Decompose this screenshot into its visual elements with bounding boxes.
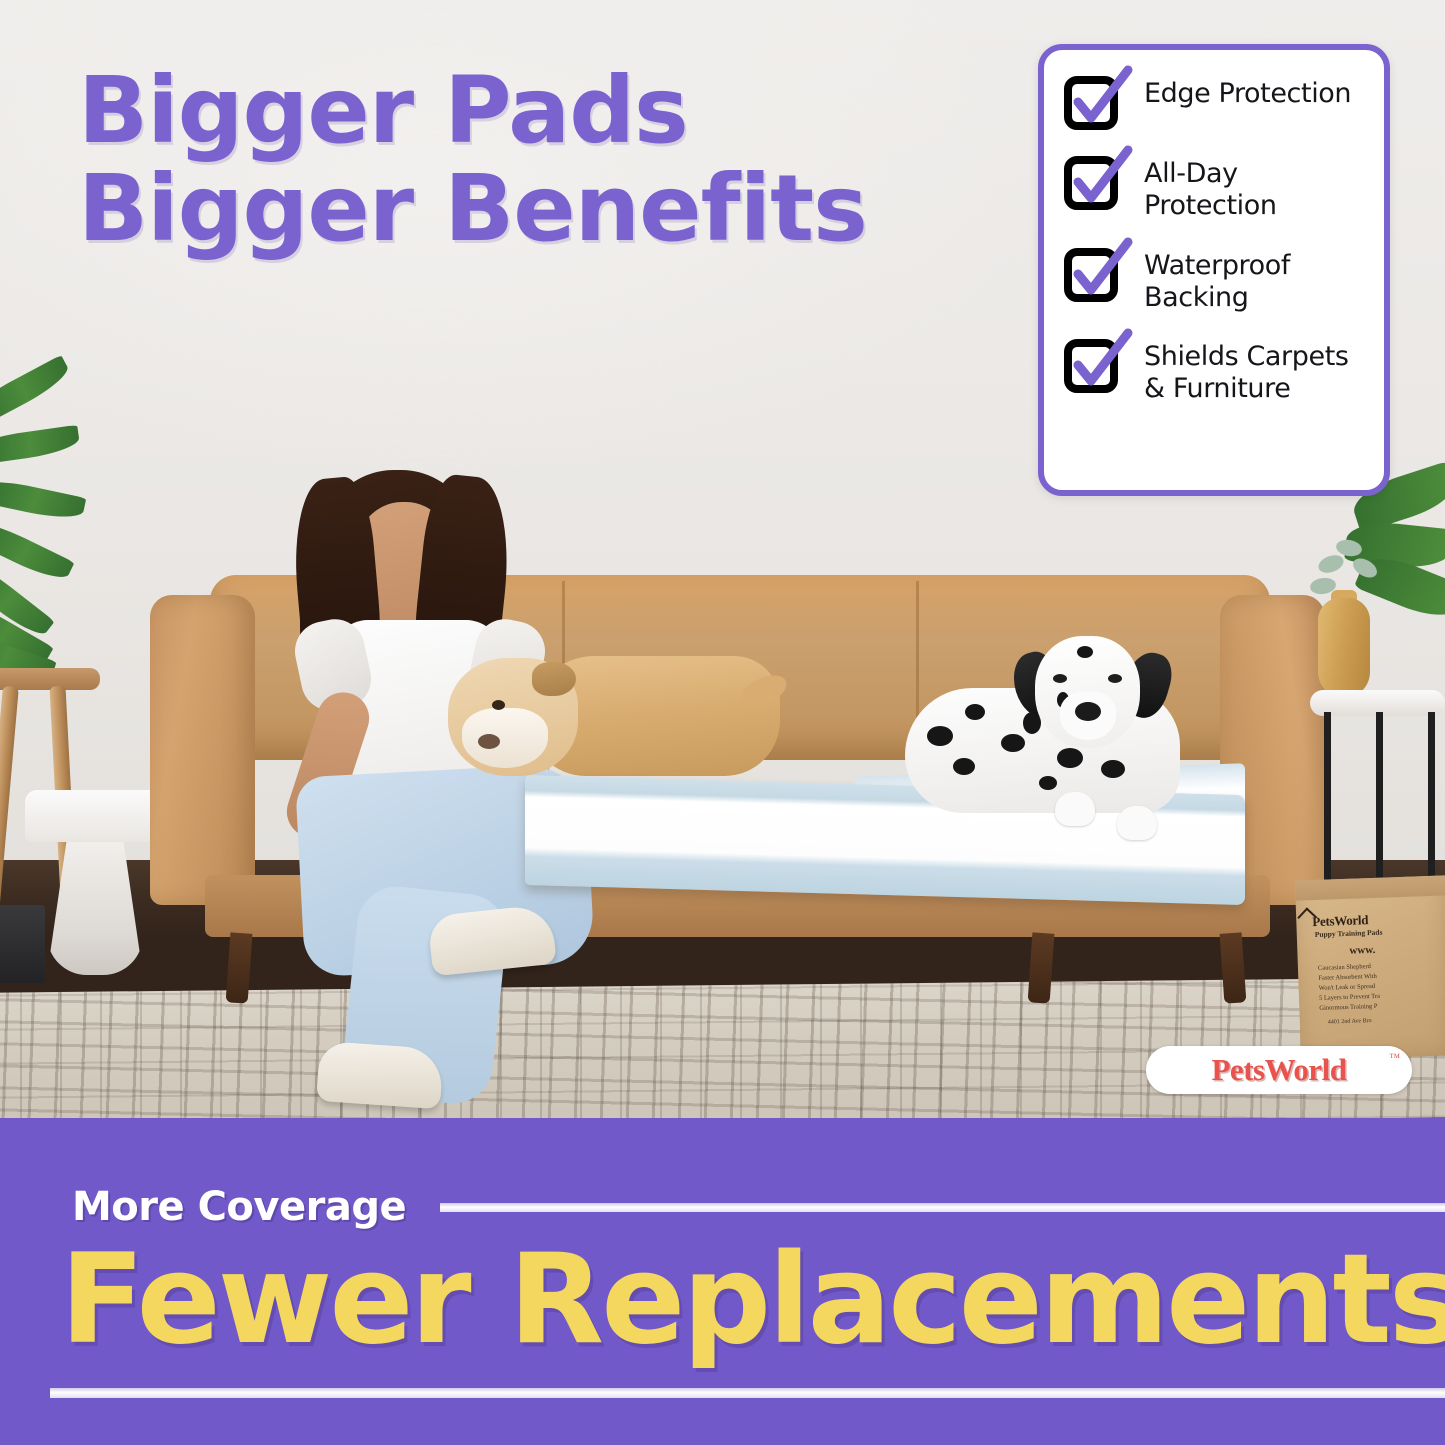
- product-marketing-image: PetsWorld Puppy Training Pads www. Cauca…: [0, 0, 1445, 1445]
- feature-label: Waterproof Backing: [1144, 248, 1368, 314]
- sofa-leg: [1220, 932, 1247, 1003]
- box-address: 4401 2nd Ave Bro: [1328, 1018, 1372, 1026]
- dalmatian: [905, 630, 1225, 845]
- checkbox-checked-icon: [1064, 248, 1122, 302]
- feature-label: Shields Carpets & Furniture: [1144, 339, 1368, 405]
- product-package-box: PetsWorld Puppy Training Pads www. Cauca…: [1295, 875, 1445, 1060]
- feature-checklist-card: Edge Protection All-Day Protection Water…: [1038, 44, 1390, 496]
- feature-item-edge-protection: Edge Protection: [1064, 76, 1368, 130]
- banner-headline: Fewer Replacements: [60, 1238, 1445, 1362]
- checkbox-checked-icon: [1064, 76, 1122, 130]
- feature-label: All-Day Protection: [1144, 156, 1368, 222]
- feature-label: Edge Protection: [1144, 76, 1351, 110]
- box-feature-list: Caucasian Shepherd Faster Absorbent With…: [1318, 962, 1381, 1014]
- box-website: www.: [1349, 944, 1375, 957]
- banner-eyebrow: More Coverage: [72, 1184, 406, 1230]
- feature-item-all-day-protection: All-Day Protection: [1064, 156, 1368, 222]
- checkbox-checked-icon: [1064, 339, 1122, 393]
- sofa-leg: [1028, 932, 1055, 1003]
- checkbox-checked-icon: [1064, 156, 1122, 210]
- headline-line-2: Bigger Benefits: [78, 160, 958, 258]
- headline-line-1: Bigger Pads: [78, 62, 958, 160]
- trademark-symbol: ™: [1389, 1052, 1400, 1064]
- box-brand-name: PetsWorld: [1312, 912, 1368, 930]
- box-subtitle: Puppy Training Pads: [1315, 928, 1383, 939]
- pedestal-side-table: [25, 790, 165, 975]
- banner-eyebrow-row: More Coverage: [0, 1184, 1445, 1230]
- gold-vase: [1318, 598, 1370, 698]
- feature-item-waterproof-backing: Waterproof Backing: [1064, 248, 1368, 314]
- petsworld-logo: PetsWorld ™: [1146, 1046, 1412, 1094]
- box-bullet: Ginormous Training P: [1319, 1002, 1380, 1014]
- feature-item-shields-carpets-furniture: Shields Carpets & Furniture: [1064, 339, 1368, 405]
- banner-divider-bottom: [50, 1388, 1445, 1398]
- logo-text: PetsWorld: [1212, 1052, 1347, 1088]
- page-headline: Bigger Pads Bigger Benefits: [78, 62, 958, 257]
- banner-divider-top: [440, 1203, 1445, 1212]
